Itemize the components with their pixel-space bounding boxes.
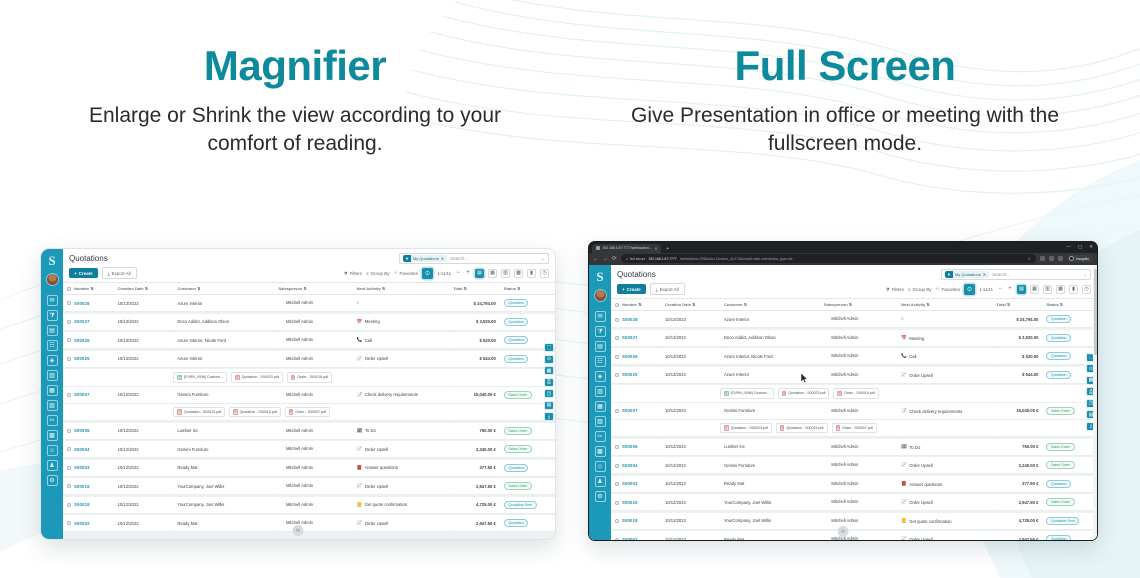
select-all-checkbox[interactable] [615, 303, 619, 307]
row-checkbox[interactable] [67, 338, 71, 342]
magnifier-button[interactable]: ⊙ [422, 268, 433, 279]
cell-next-activity: 📕Answer questions [353, 460, 450, 477]
tablet-home-button[interactable]: ✉ [293, 525, 304, 536]
next-activity[interactable]: 📈Order Upsell [901, 500, 933, 505]
pdf-file-icon: A [724, 425, 729, 431]
print-tool[interactable]: ⎙ [544, 378, 554, 387]
column-header-salesperson[interactable]: Salesperson ⇅ [820, 299, 897, 311]
next-activity[interactable]: 📒Get quote confirmation [357, 502, 407, 507]
app-sidebar[interactable]: S ✉⧩▤☷◈▥▦▨✂▩☺♟⚙ [589, 265, 611, 540]
cell-salesperson: Mitchell Admin [275, 515, 353, 532]
row-checkbox[interactable] [67, 357, 71, 361]
row-checkbox[interactable] [615, 445, 619, 449]
app-main-area: Quotations ▼ My Quotations✕ Search... ⌄ [611, 265, 1097, 540]
purchase-icon[interactable]: ▨ [595, 416, 606, 427]
status-badge: Quotation [504, 519, 529, 527]
attachment-chip[interactable]: X[FURN_0096] Customi... [173, 372, 227, 383]
table-row[interactable]: S0002510/13/2022Azure InteriorMitchell A… [611, 367, 1097, 384]
contacts-icon[interactable]: ☷ [47, 340, 58, 351]
row-checkbox[interactable] [615, 409, 619, 413]
employees-icon[interactable]: ☺ [595, 461, 606, 472]
attachment-chip[interactable]: AOrder - S00016.pdf [833, 388, 878, 399]
cell-status: Quotation [1042, 330, 1097, 347]
record-pager[interactable]: 1-11/11 [437, 271, 451, 276]
quotations-table-container[interactable]: Number ⇅Creation Date ⇅Customer ⇅Salespe… [63, 283, 555, 539]
row-checkbox[interactable] [67, 521, 71, 525]
next-activity[interactable]: 📒Get quote confirmation [901, 519, 951, 524]
column-header-number[interactable]: Number ⇅ [63, 283, 114, 295]
record-number-link[interactable]: S00027 [622, 335, 638, 340]
export-label: Export All [660, 287, 679, 292]
salesperson-name: Mitchell Admin [831, 316, 858, 321]
recruitment-icon[interactable]: ♟ [47, 460, 58, 471]
status-badge: Quotation [504, 355, 529, 363]
next-activity[interactable]: 📝Check delivery requirements [357, 392, 418, 397]
record-number-link[interactable]: S00007 [622, 408, 638, 413]
attachment-chip[interactable]: AOrder - S00016.pdf [287, 372, 332, 383]
app-logo-icon[interactable]: S [44, 252, 61, 269]
activity-type-icon: 📈 [357, 357, 363, 362]
back-icon[interactable]: ← [593, 256, 599, 262]
cell-creation-date: 10/12/2022 [661, 494, 720, 511]
row-checkbox[interactable] [67, 503, 71, 507]
cell-number: S00028 [611, 311, 661, 328]
sticky-note-tool[interactable]: ▤ [544, 401, 554, 410]
row-checkbox[interactable] [615, 318, 619, 322]
record-number-link[interactable]: S00018 [74, 502, 90, 507]
settings-icon[interactable]: ⚙ [595, 491, 606, 502]
cell-next-activity: ○ [353, 295, 450, 312]
row-checkbox[interactable] [67, 466, 71, 470]
kanban-view-button[interactable]: ▦ [1030, 285, 1039, 294]
sales-icon[interactable]: ◈ [47, 355, 58, 366]
table-row[interactable]: S0000410/12/2022Gemini FurnitureMitchell… [63, 441, 555, 458]
column-header-status[interactable]: Status ⇅ [500, 283, 555, 295]
graph-view-button[interactable]: ▮ [527, 269, 536, 278]
activity-type-icon: 📈 [357, 484, 363, 489]
salesperson: Mitchell Admin [824, 481, 859, 486]
list-view-button[interactable]: ▤ [475, 269, 484, 278]
attachment-chip[interactable]: AOrder - S00007.pdf [285, 407, 330, 418]
next-activity[interactable]: 📝Check delivery requirements [901, 409, 962, 414]
avatar [279, 465, 284, 470]
salesperson: Mitchell Admin [279, 300, 314, 305]
attachment-chip[interactable]: AOrder - S00007.pdf [832, 423, 877, 434]
activity-type-icon: 📒 [357, 503, 363, 508]
cell-creation-date: 10/13/2022 [661, 367, 720, 384]
record-number-link[interactable]: S00003 [74, 465, 90, 470]
calendar-view-button[interactable]: ▥ [1043, 285, 1052, 294]
address-bar[interactable]: ⚠ Not secure 192.168.1.67:7777 /web#acti… [621, 254, 1036, 263]
record-number-link[interactable]: S00028 [74, 301, 90, 306]
column-header-next-activity[interactable]: Next Activity ⇅ [897, 299, 992, 311]
next-activity[interactable]: 🗓To Do [357, 428, 376, 433]
record-number-link[interactable]: S00027 [74, 319, 90, 324]
pivot-view-button[interactable]: ▩ [514, 269, 523, 278]
record-number-link[interactable]: S00025 [74, 356, 90, 361]
export-all-button[interactable]: ⤓ Export All [650, 283, 685, 295]
table-row[interactable]: S0000310/12/2022Ready MatMitchell Admin📕… [63, 460, 555, 477]
activity-view-button[interactable]: ◷ [540, 269, 549, 278]
column-header-salesperson[interactable]: Salesperson ⇅ [275, 283, 353, 295]
pdf-file-icon: A [291, 375, 296, 381]
magnifier-increase-button[interactable]: + [1007, 286, 1013, 292]
crm-icon[interactable]: ▩ [47, 430, 58, 441]
fullscreen-tool[interactable]: ⛶ [544, 343, 554, 352]
select-all-checkbox[interactable] [67, 287, 71, 291]
calendar-icon[interactable]: ▤ [595, 341, 606, 352]
record-number-link[interactable]: S00006 [74, 428, 90, 433]
salesperson: Mitchell Admin [824, 372, 859, 377]
extension-icon[interactable] [1040, 256, 1045, 261]
cell-salesperson: Mitchell Admin [275, 295, 353, 312]
activity-label: Call [909, 354, 916, 359]
magnifier-tool[interactable]: ⊙ [544, 355, 554, 364]
feature-title: Full Screen [610, 44, 1080, 88]
attachment-chip[interactable]: AQuotation - S00015.pdf [229, 407, 281, 418]
close-icon[interactable]: ✕ [654, 246, 657, 251]
reporting-icon[interactable]: ▥ [595, 386, 606, 397]
activity-label: Get quote confirmation [909, 519, 951, 524]
next-activity[interactable]: 📈Order Upsell [357, 356, 389, 361]
row-checkbox[interactable] [67, 320, 71, 324]
cell-customer: YourCompany, Joel Willis [173, 478, 274, 495]
export-all-button[interactable]: ⤓ Export All [102, 267, 137, 279]
tablet-device-magnifier-demo: S ✉⧩▤☷◈▥▦▨✂▩☺♟⚙ Quotations ▼ My Quotatio… [40, 248, 556, 540]
list-icon: ≡ [908, 287, 911, 292]
next-activity[interactable]: 📅Meeting [357, 319, 380, 324]
cell-customer: Ready Mat [173, 515, 274, 532]
list-view-button[interactable]: ▤ [1017, 285, 1026, 294]
browser-toolbar: ← → ⟳ ⚠ Not secure 192.168.1.67:7777 /we… [589, 253, 1097, 266]
next-activity[interactable]: 📈Order Upsell [357, 447, 389, 452]
grid-tool[interactable]: ▦ [544, 366, 554, 375]
column-header-customer[interactable]: Customer ⇅ [720, 299, 820, 311]
next-activity[interactable]: 📕Answer questions [357, 465, 398, 470]
scrollbar-track[interactable] [1093, 265, 1097, 540]
cell-total: 2,947.50 € [449, 515, 500, 532]
manufacturing-icon[interactable]: ✂ [595, 431, 606, 442]
cell-salesperson: Mitchell Admin [275, 478, 353, 495]
next-activity[interactable]: 📈Order Upsell [901, 373, 933, 378]
cell-salesperson: Mitchell Admin [275, 386, 353, 403]
avatar [824, 481, 829, 486]
maximize-button[interactable]: ▢ [1078, 244, 1082, 250]
create-button[interactable]: + Create [617, 284, 646, 294]
minimize-button[interactable]: — [1066, 244, 1071, 250]
attachment-chip[interactable]: AQuotation - S00015.pdf [776, 423, 828, 434]
recruitment-icon[interactable]: ♟ [595, 476, 606, 487]
cell-number: S00026 [63, 332, 114, 349]
not-secure-indicator[interactable]: ⚠ Not secure [626, 257, 646, 261]
magnifier-decrease-button[interactable]: − [455, 270, 461, 276]
cell-total: 2,947.50 € [992, 531, 1042, 540]
group-by-label: Group By [912, 287, 931, 292]
browser-tab[interactable]: 192.168.1.67:7777/web#action... ✕ [592, 244, 661, 253]
table-row[interactable]: S0002810/13/2022Azure InteriorMitchell A… [611, 311, 1097, 328]
scrollbar-thumb[interactable] [1094, 269, 1097, 355]
table-row[interactable]: S0000210/12/2022Ready MatMitchell Admin📈… [611, 531, 1097, 540]
next-activity[interactable]: 📈Order Upsell [901, 463, 933, 468]
cell-salesperson: Mitchell Admin [820, 311, 897, 328]
settings-icon[interactable]: ⚙ [47, 475, 58, 486]
search-input[interactable]: Search... [450, 256, 538, 261]
row-checkbox[interactable] [615, 336, 619, 340]
pivot-view-button[interactable]: ▩ [1056, 285, 1065, 294]
next-activity[interactable]: 📅Meeting [901, 336, 924, 341]
activity-view-button[interactable]: ◷ [1082, 285, 1091, 294]
manufacturing-icon[interactable]: ✂ [47, 415, 58, 426]
search-facet-my-quotations[interactable]: ▼ My Quotations✕ [403, 255, 447, 263]
control-panel-tools: ⧩Filters ≡Group By ☆Favorites ⊙ 1-11/11 … [344, 268, 549, 279]
row-checkbox[interactable] [615, 501, 619, 505]
floating-toolbar[interactable]: ⛶⊙▦⎙◳▤⤓ [544, 343, 554, 421]
activity-type-icon: 📈 [901, 463, 907, 468]
chevron-down-icon[interactable]: ⌄ [1083, 272, 1087, 278]
graph-view-button[interactable]: ▮ [1069, 285, 1078, 294]
status-badge: Sales Order [1046, 498, 1074, 506]
inventory-icon[interactable]: ▦ [47, 385, 58, 396]
column-header-label: Customer ⇅ [177, 286, 200, 291]
column-header-creation-date[interactable]: Creation Date ⇅ [114, 283, 174, 295]
salesperson: Mitchell Admin [824, 462, 859, 467]
next-activity[interactable]: 📞Call [357, 338, 372, 343]
screenshot-tool[interactable]: ◳ [544, 389, 554, 398]
search-input[interactable]: Search... [992, 272, 1080, 277]
record-pager[interactable]: 1-11/11 [979, 287, 993, 292]
cell-total: $ 3,520.00 [992, 330, 1042, 347]
export-tool[interactable]: ⤓ [544, 412, 554, 421]
cell-creation-date: 10/12/2022 [114, 460, 174, 477]
browser-tab-strip: 192.168.1.67:7777/web#action... ✕ + — ▢ … [589, 242, 1097, 253]
control-panel-tools: ⧩Filters ≡Group By ☆Favorites ⊙ 1-11/11 … [886, 284, 1091, 295]
salesperson-name: Mitchell Admin [831, 518, 858, 523]
next-activity[interactable]: 📈Order Upsell [357, 484, 389, 489]
cell-next-activity: 📞Call [353, 332, 450, 349]
search-facet-my-quotations[interactable]: ▼ My Quotations✕ [945, 271, 989, 279]
quotations-table-container[interactable]: Number ⇅Creation Date ⇅Customer ⇅Salespe… [611, 299, 1097, 540]
record-number-link[interactable]: S00004 [74, 447, 90, 452]
magnifier-increase-button[interactable]: + [465, 270, 471, 276]
activity-label: Order Upsell [365, 521, 389, 526]
table-row[interactable]: S0000410/12/2022Gemini FurnitureMitchell… [611, 457, 1097, 474]
activity-type-icon: 📒 [901, 519, 907, 524]
filter-icon[interactable]: ⧩ [47, 310, 58, 321]
record-number-link[interactable]: S00018 [622, 518, 638, 523]
magnifier-button[interactable]: ⊙ [964, 284, 975, 295]
cell-total: $ 544.00 [992, 367, 1042, 384]
record-number-link[interactable]: S00003 [622, 481, 638, 486]
record-number-link[interactable]: S00025 [622, 372, 638, 377]
close-window-button[interactable]: ✕ [1089, 244, 1093, 250]
purchase-icon[interactable]: ▨ [47, 400, 58, 411]
column-header-creation-date[interactable]: Creation Date ⇅ [661, 299, 720, 311]
row-checkbox[interactable] [67, 447, 71, 451]
column-header-label: Salesperson ⇅ [824, 302, 852, 307]
column-header-customer[interactable]: Customer ⇅ [173, 283, 274, 295]
table-row[interactable]: S0000710/12/2022Gemini FurnitureMitchell… [611, 402, 1097, 419]
table-row[interactable]: S0002810/13/2022Azure InteriorMitchell A… [63, 295, 555, 312]
table-row[interactable]: S0000610/12/2022Lumber IncMitchell Admin… [611, 439, 1097, 456]
table-row[interactable]: S0002610/13/2022Azure Interior, Nicole F… [63, 332, 555, 349]
chevron-down-icon[interactable]: ⌄ [541, 256, 545, 262]
cell-customer: Deco Addict, Addison Olson [720, 330, 820, 347]
next-activity[interactable]: 🗓To Do [901, 445, 920, 450]
record-number-link[interactable]: S00019 [74, 484, 90, 489]
facet-label: My Quotations [413, 256, 439, 261]
record-number-link[interactable]: S00026 [74, 338, 90, 343]
calendar-view-button[interactable]: ▥ [501, 269, 510, 278]
group-by-dropdown[interactable]: ≡Group By [908, 287, 932, 292]
table-row[interactable]: S0000210/12/2022Ready MatMitchell Admin📈… [63, 515, 555, 532]
row-checkbox[interactable] [67, 484, 71, 488]
next-activity[interactable]: 📞Call [901, 354, 916, 359]
next-activity[interactable]: 📈Order Upsell [357, 521, 389, 526]
attachment-chip[interactable]: AQuotation - S00023.pdf [720, 423, 772, 434]
page-scroll-button[interactable]: ✉ [838, 526, 849, 537]
table-row[interactable]: S0001810/12/2022YourCompany, Joel Willis… [611, 513, 1097, 530]
record-number-link[interactable]: S00002 [74, 521, 90, 526]
calendar-icon[interactable]: ▤ [47, 325, 58, 336]
record-number-link[interactable]: S00019 [622, 500, 638, 505]
record-number-link[interactable]: S00007 [74, 392, 90, 397]
table-row[interactable]: S0002610/13/2022Azure Interior, Nicole F… [611, 348, 1097, 365]
reporting-icon[interactable]: ▥ [47, 370, 58, 381]
incognito-indicator[interactable]: Incognito [1067, 255, 1093, 262]
table-row[interactable]: S0000310/12/2022Ready MatMitchell Admin📕… [611, 476, 1097, 493]
cell-customer: Gemini Furniture [173, 386, 274, 403]
messages-icon[interactable]: ✉ [47, 295, 58, 306]
avatar [824, 316, 829, 321]
sales-icon[interactable]: ◈ [595, 371, 606, 382]
inventory-icon[interactable]: ▦ [595, 401, 606, 412]
cell-status: Quotation [500, 460, 555, 477]
salesperson-name: Mitchell Admin [831, 372, 858, 377]
profile-icon[interactable] [1058, 256, 1063, 261]
row-checkbox[interactable] [615, 464, 619, 468]
forward-icon[interactable]: → [603, 256, 609, 262]
kanban-view-button[interactable]: ▦ [488, 269, 497, 278]
status-badge: Sales Order [1046, 443, 1074, 451]
table-row[interactable]: S0002510/13/2022Azure InteriorMitchell A… [63, 351, 555, 368]
cell-creation-date: 10/12/2022 [114, 441, 174, 458]
new-tab-button[interactable]: + [663, 246, 672, 253]
status-badge: Sales Order [1046, 407, 1074, 415]
next-activity[interactable]: 📕Answer questions [901, 482, 942, 487]
search-box[interactable]: ▼ My Quotations✕ Search... ⌄ [399, 253, 549, 264]
bookmark-star-icon[interactable]: ☆ [1027, 256, 1031, 261]
column-header-status[interactable]: Status ⇅ [1042, 299, 1097, 311]
extension-icon[interactable] [1049, 256, 1054, 261]
status-badge: Quotation [504, 464, 529, 472]
column-header-total[interactable]: Total ⇅ [449, 283, 500, 295]
row-checkbox[interactable] [615, 355, 619, 359]
attachment-chip[interactable]: AQuotation - S00023.pdf [173, 407, 225, 418]
row-checkbox[interactable] [67, 429, 71, 433]
cell-next-activity: 🗓To Do [897, 439, 992, 456]
row-checkbox[interactable] [615, 538, 619, 540]
cell-next-activity: 🗓To Do [353, 423, 450, 440]
attachment-chip[interactable]: AQuotation - S00023.pdf [778, 388, 830, 399]
facet-remove-icon[interactable]: ✕ [441, 256, 444, 261]
column-header-total[interactable]: Total ⇅ [992, 299, 1042, 311]
filters-dropdown[interactable]: ⧩Filters [344, 271, 362, 276]
column-header-next-activity[interactable]: Next Activity ⇅ [353, 283, 450, 295]
next-activity[interactable]: 📈Order Upsell [901, 537, 933, 540]
record-number-link[interactable]: S00028 [622, 317, 638, 322]
url-path: /web#action=293&cids=1&menu_id=175&model… [680, 257, 793, 261]
filters-dropdown[interactable]: ⧩Filters [886, 287, 904, 292]
row-checkbox[interactable] [67, 301, 71, 305]
next-activity[interactable]: ○ [901, 317, 906, 322]
avatar [279, 483, 284, 488]
record-number-link[interactable]: S00004 [622, 463, 638, 468]
record-number-link[interactable]: S00002 [622, 537, 638, 540]
attachment-chip[interactable]: AQuotation - S00023.pdf [231, 372, 283, 383]
attachment-chip[interactable]: X[FURN_0096] Customi... [720, 388, 774, 399]
create-button[interactable]: + Create [69, 268, 98, 278]
next-activity[interactable]: ○ [357, 301, 362, 306]
row-checkbox[interactable] [67, 393, 71, 397]
contacts-icon[interactable]: ☷ [595, 356, 606, 367]
table-row[interactable]: S0002710/13/2022Deco Addict, Addison Ols… [63, 314, 555, 331]
record-number-link[interactable]: S00006 [622, 444, 638, 449]
attachment-label: Quotation - S00023.pdf [184, 410, 221, 414]
cell-customer: Gemini Furniture [720, 457, 820, 474]
table-row[interactable]: S0000710/12/2022Gemini FurnitureMitchell… [63, 386, 555, 403]
app-sidebar[interactable]: S ✉⧩▤☷◈▥▦▨✂▩☺♟⚙ [41, 249, 63, 539]
facet-filter-icon: ▼ [945, 271, 953, 279]
table-row[interactable]: S0001910/12/2022YourCompany, Joel Willis… [611, 494, 1097, 511]
app-logo-icon[interactable]: S [592, 268, 609, 285]
salesperson-name: Mitchell Admin [831, 536, 858, 540]
messages-icon[interactable]: ✉ [595, 311, 606, 322]
table-row[interactable]: S0000610/12/2022Lumber IncMitchell Admin… [63, 423, 555, 440]
reload-icon[interactable]: ⟳ [612, 256, 617, 262]
column-header-number[interactable]: Number ⇅ [611, 299, 661, 311]
avatar [824, 353, 829, 358]
activity-type-icon: 📈 [357, 521, 363, 526]
column-header-label: Creation Date ⇅ [665, 302, 695, 307]
avatar [279, 356, 284, 361]
row-checkbox[interactable] [615, 519, 619, 523]
cell-status: Quotation [1042, 476, 1097, 493]
cell-salesperson: Mitchell Admin [820, 367, 897, 384]
search-box[interactable]: ▼ My Quotations✕ Search... ⌄ [941, 269, 1091, 280]
table-row[interactable]: S0001910/12/2022YourCompany, Joel Willis… [63, 478, 555, 495]
quotations-table: Number ⇅Creation Date ⇅Customer ⇅Salespe… [611, 299, 1097, 540]
facet-remove-icon[interactable]: ✕ [983, 272, 986, 277]
status-badge: Sales Order [504, 427, 532, 435]
user-avatar[interactable] [46, 273, 59, 286]
cell-customer: Ready Mat [173, 460, 274, 477]
filter-icon[interactable]: ⧩ [595, 326, 606, 337]
crm-icon[interactable]: ▩ [595, 446, 606, 457]
group-by-dropdown[interactable]: ≡Group By [366, 271, 390, 276]
user-avatar[interactable] [594, 289, 607, 302]
employees-icon[interactable]: ☺ [47, 445, 58, 456]
magnifier-decrease-button[interactable]: − [997, 286, 1003, 292]
table-row[interactable]: S0001810/12/2022YourCompany, Joel Willis… [63, 497, 555, 514]
attachment-row: X[FURN_0096] Customi...AQuotation - S000… [63, 369, 555, 386]
favorites-dropdown[interactable]: ☆Favorites [394, 270, 419, 276]
favorites-dropdown[interactable]: ☆Favorites [936, 286, 961, 292]
row-checkbox[interactable] [615, 482, 619, 486]
record-number-link[interactable]: S00026 [622, 354, 638, 359]
pdf-file-icon: A [837, 391, 842, 397]
table-row[interactable]: S0002710/13/2022Deco Addict, Addison Ols… [611, 330, 1097, 347]
row-checkbox[interactable] [615, 373, 619, 377]
